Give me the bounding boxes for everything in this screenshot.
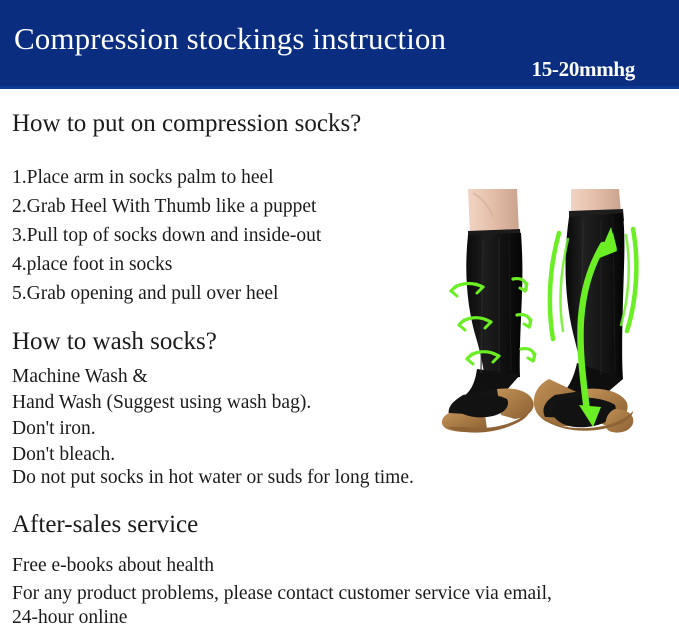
list-item: 5.Grab opening and pull over heel <box>12 282 278 306</box>
list-item: 24-hour online <box>12 606 127 626</box>
list-item: Do not put socks in hot water or suds fo… <box>12 466 414 490</box>
list-item: 2.Grab Heel With Thumb like a puppet <box>12 195 316 219</box>
list-item: 1.Place arm in socks palm to heel <box>12 166 274 190</box>
compression-socks-photo-icon <box>437 183 679 451</box>
list-item: Don't iron. <box>12 417 96 441</box>
header-banner: Compression stockings instruction 15-20m… <box>0 0 679 89</box>
list-item: Machine Wash & <box>12 365 148 389</box>
list-item: 4.place foot in socks <box>12 253 172 277</box>
pressure-rating-label: 15-20mmhg <box>532 57 635 81</box>
list-item: Hand Wash (Suggest using wash bag). <box>12 391 311 415</box>
heading-after-sales-service: After-sales service <box>12 510 198 539</box>
list-item: 3.Pull top of socks down and inside-out <box>12 224 321 248</box>
list-item: Don't bleach. <box>12 443 115 467</box>
list-item: Free e-books about health <box>12 554 214 578</box>
page-title: Compression stockings instruction <box>14 21 446 57</box>
header-underline <box>0 86 679 89</box>
heading-how-to-put-on: How to put on compression socks? <box>12 109 361 138</box>
heading-how-to-wash: How to wash socks? <box>12 327 217 356</box>
instruction-page: Compression stockings instruction 15-20m… <box>0 0 679 626</box>
list-item: For any product problems, please contact… <box>12 582 552 606</box>
